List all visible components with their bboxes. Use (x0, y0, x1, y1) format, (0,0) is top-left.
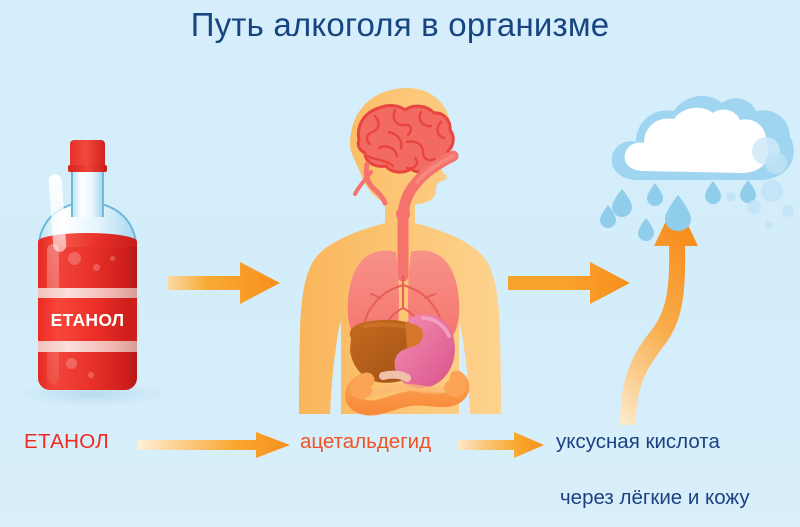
bubble-icon (66, 358, 77, 369)
legend-excretion-note: через лёгкие и кожу (560, 486, 750, 510)
pancreas-organ (383, 375, 407, 378)
bubble-icon (68, 252, 81, 265)
rain-bubbles (726, 180, 794, 229)
human-body-illustration (255, 80, 545, 420)
page-title: Путь алкоголя в организме (0, 6, 800, 44)
bubble-icon (88, 372, 94, 378)
rain-droplets (600, 180, 756, 241)
legend-ethanol-label: ЕТАНОЛ (24, 428, 109, 456)
bottle-neck (71, 171, 104, 217)
bottle-label: ЕТАНОЛ (38, 298, 137, 342)
cloud-icon (612, 96, 794, 180)
ethanol-bottle-illustration: ЕТАНОЛ (18, 140, 168, 410)
arrow-acetaldehyde-to-acetic (458, 432, 546, 458)
infographic-canvas: Путь алкоголя в организме ЕТАНОЛ (0, 0, 800, 527)
metabolism-legend: ЕТАНОЛ ацетальдегид (0, 424, 800, 464)
bottle-label-band-bottom (38, 341, 137, 352)
bubble-icon (110, 256, 115, 261)
legend-acetaldehyde-label: ацетальдегид (300, 428, 431, 456)
bottle-cap (70, 140, 105, 167)
bubble-icon (93, 264, 100, 271)
bottle-label-text: ЕТАНОЛ (51, 310, 125, 331)
rain-cloud-illustration (600, 85, 800, 265)
legend-acetic-acid-label: уксусная кислота (556, 428, 720, 456)
bottle-cap-ring (68, 165, 107, 172)
arrow-ethanol-to-acetaldehyde (138, 432, 293, 458)
